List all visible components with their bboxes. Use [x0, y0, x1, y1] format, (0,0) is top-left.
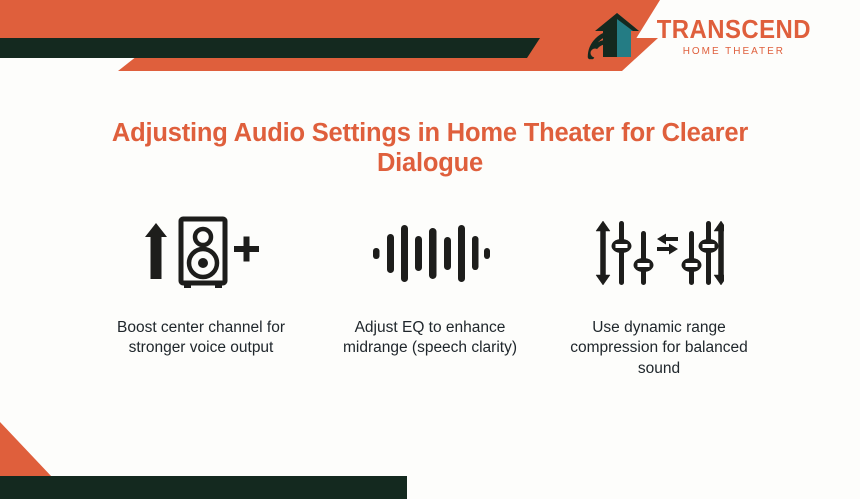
feature-caption: Adjust EQ to enhance midrange (speech cl…: [335, 318, 525, 359]
equalizer-compression-icon: [594, 213, 724, 293]
house-wifi-icon: [587, 11, 641, 61]
feature-caption: Use dynamic range compression for balanc…: [564, 318, 754, 379]
icon-container: [370, 205, 490, 300]
feature-caption: Boost center channel for stronger voice …: [106, 318, 296, 359]
audio-waveform-icon: [370, 218, 490, 288]
brand-tagline: HOME THEATER: [683, 46, 785, 57]
feature-column-3: Use dynamic range compression for balanc…: [545, 205, 774, 379]
bottom-green-bar: [0, 476, 407, 499]
feature-column-1: Boost center channel for stronger voice …: [87, 205, 316, 359]
feature-column-2: Adjust EQ to enhance midrange (speech cl…: [316, 205, 545, 359]
icon-container: [141, 205, 261, 300]
brand-name: TRANSCEND: [657, 16, 811, 42]
brand-logo-text: TRANSCEND HOME THEATER: [650, 16, 818, 57]
slide-canvas: TRANSCEND HOME THEATER Adjusting Audio S…: [0, 0, 860, 499]
feature-columns: Boost center channel for stronger voice …: [0, 205, 860, 379]
bottom-orange-triangle: [0, 422, 52, 477]
icon-container: [594, 205, 724, 300]
brand-logo: TRANSCEND HOME THEATER: [587, 11, 818, 61]
page-title: Adjusting Audio Settings in Home Theater…: [100, 118, 760, 178]
top-green-band: [0, 38, 540, 58]
speaker-boost-icon: [141, 213, 261, 293]
